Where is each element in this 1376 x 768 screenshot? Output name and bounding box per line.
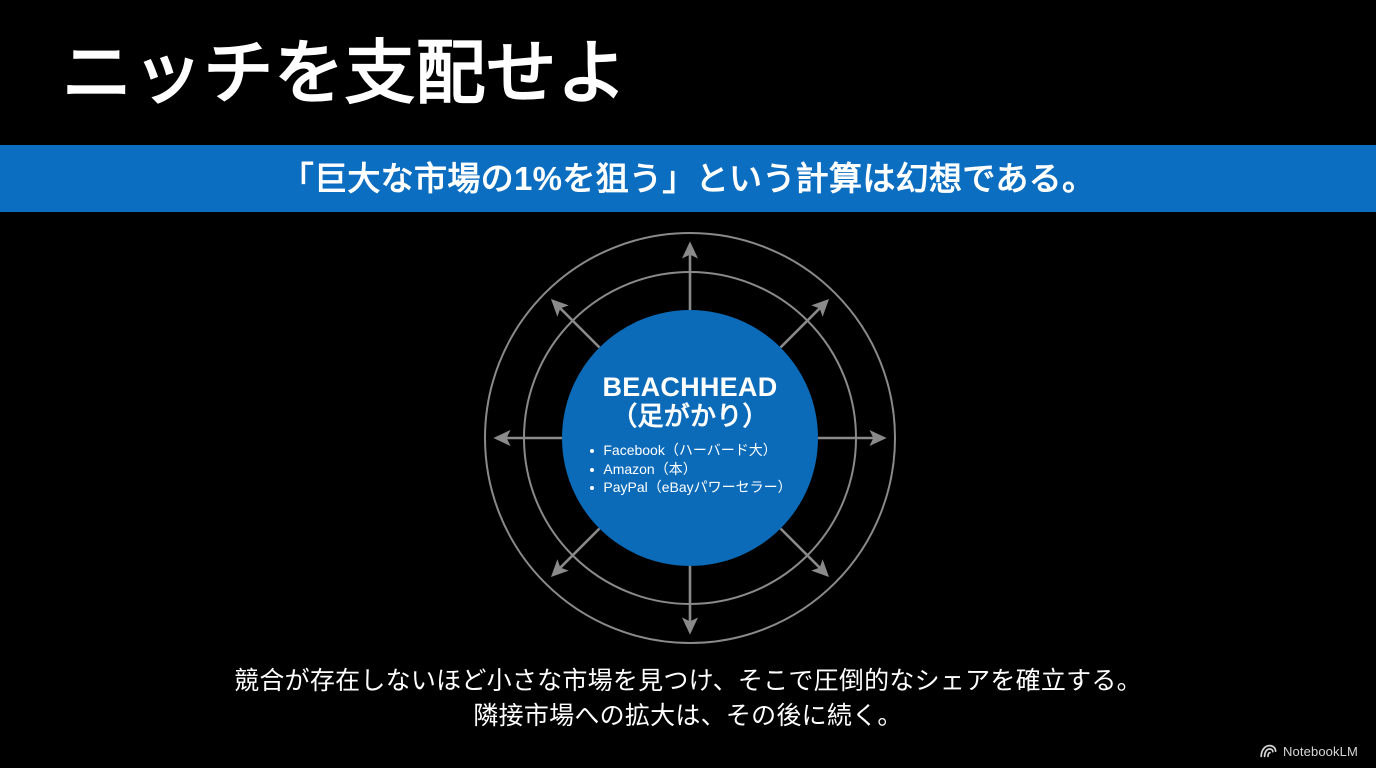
arrow-down-right: [781, 529, 828, 576]
arrow-up-left: [553, 301, 600, 348]
beachhead-circle: [562, 310, 818, 566]
arrow-down-left: [553, 529, 600, 576]
slide-root: ニッチを支配せよ 「巨大な市場の1%を狙う」という計算は幻想である。: [0, 0, 1376, 768]
caption-line-1: 競合が存在しないほど小さな市場を見つけ、そこで圧倒的なシェアを確立する。: [0, 664, 1376, 699]
caption-line-2: 隣接市場への拡大は、その後に続く。: [0, 699, 1376, 734]
caption-block: 競合が存在しないほど小さな市場を見つけ、そこで圧倒的なシェアを確立する。 隣接市…: [0, 664, 1376, 733]
diagram-svg: [0, 212, 1376, 652]
watermark-label: NotebookLM: [1283, 745, 1358, 758]
subtitle-banner: 「巨大な市場の1%を狙う」という計算は幻想である。: [0, 145, 1376, 212]
notebooklm-spiral-icon: [1260, 744, 1277, 758]
arrow-up-right: [781, 301, 828, 348]
subtitle-text: 「巨大な市場の1%を狙う」という計算は幻想である。: [281, 162, 1096, 195]
notebooklm-watermark: NotebookLM: [1260, 744, 1358, 758]
page-title: ニッチを支配せよ: [62, 38, 628, 108]
title-area: ニッチを支配せよ: [0, 0, 1376, 145]
beachhead-diagram: BEACHHEAD （足がかり） Facebook（ハーバード大） Amazon…: [0, 212, 1376, 652]
